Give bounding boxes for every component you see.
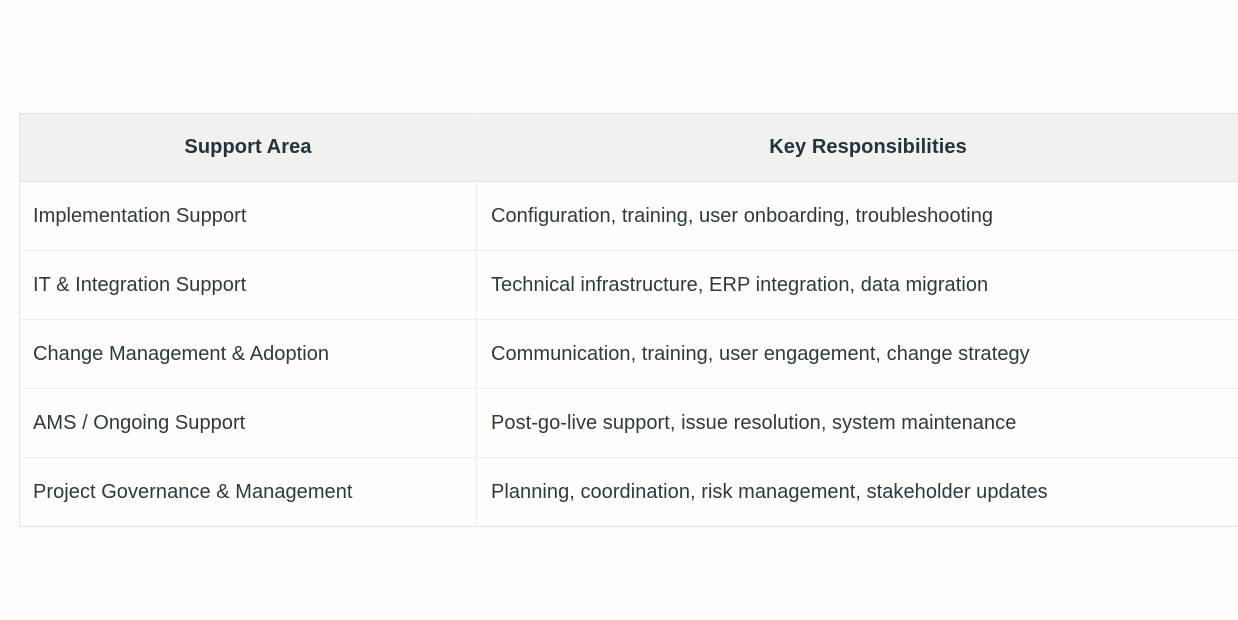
table-row: IT & Integration Support Technical infra…: [20, 251, 1238, 320]
page-root: Support Area Key Responsibilities Implem…: [0, 0, 1238, 620]
table-body: Implementation Support Configuration, tr…: [20, 182, 1238, 527]
cell-key-responsibilities: Post-go-live support, issue resolution, …: [477, 389, 1238, 458]
table-row: Change Management & Adoption Communicati…: [20, 320, 1238, 389]
cell-support-area: Project Governance & Management: [20, 458, 477, 527]
cell-key-responsibilities: Planning, coordination, risk management,…: [477, 458, 1238, 527]
cell-key-responsibilities: Technical infrastructure, ERP integratio…: [477, 251, 1238, 320]
table-row: Project Governance & Management Planning…: [20, 458, 1238, 527]
cell-support-area: Implementation Support: [20, 182, 477, 251]
column-header-key-responsibilities: Key Responsibilities: [477, 114, 1238, 182]
column-header-support-area: Support Area: [20, 114, 477, 182]
table-header: Support Area Key Responsibilities: [20, 114, 1238, 182]
support-responsibilities-table: Support Area Key Responsibilities Implem…: [19, 113, 1238, 527]
table-row: Implementation Support Configuration, tr…: [20, 182, 1238, 251]
support-table-container: Support Area Key Responsibilities Implem…: [19, 113, 1238, 527]
table-row: AMS / Ongoing Support Post-go-live suppo…: [20, 389, 1238, 458]
cell-key-responsibilities: Communication, training, user engagement…: [477, 320, 1238, 389]
table-header-row: Support Area Key Responsibilities: [20, 114, 1238, 182]
cell-support-area: Change Management & Adoption: [20, 320, 477, 389]
cell-key-responsibilities: Configuration, training, user onboarding…: [477, 182, 1238, 251]
cell-support-area: AMS / Ongoing Support: [20, 389, 477, 458]
cell-support-area: IT & Integration Support: [20, 251, 477, 320]
